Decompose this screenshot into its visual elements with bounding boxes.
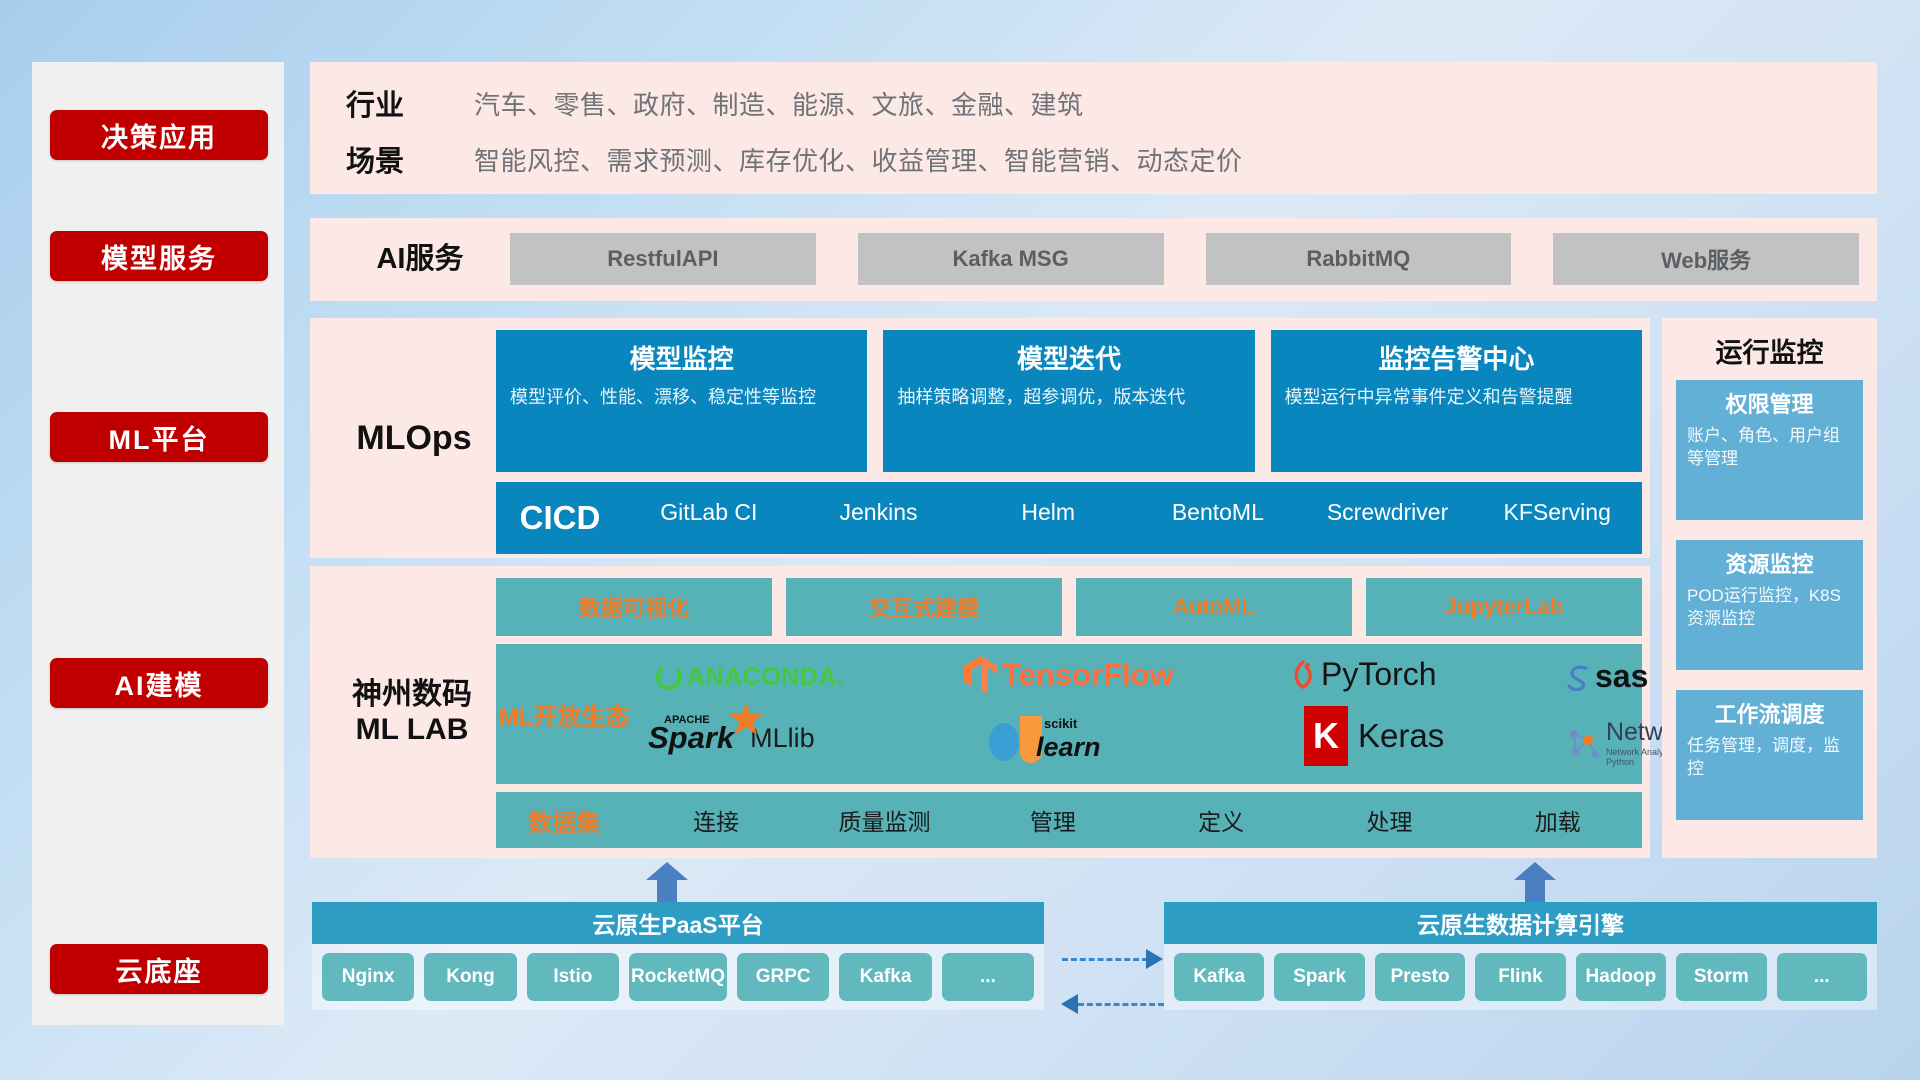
anaconda-mark-icon — [654, 662, 684, 692]
arrow-up-to-mllab-right — [1514, 862, 1556, 902]
compute-title: 云原生数据计算引擎 — [1164, 902, 1877, 944]
exchange-arrow-left — [1061, 994, 1078, 1014]
compute-chip-storm[interactable]: Storm — [1676, 953, 1766, 1001]
tensorflow-mark-icon — [962, 654, 1000, 696]
card-desc: 模型评价、性能、漂移、稳定性等监控 — [510, 385, 853, 410]
tool-card-data-visualization[interactable]: 数据可视化 — [496, 578, 772, 636]
paas-chip-nginx[interactable]: Nginx — [322, 953, 414, 1001]
cicd-item-gitlab-ci[interactable]: GitLab CI — [624, 482, 794, 525]
mlops-card-alert-center[interactable]: 监控告警中心 模型运行中异常事件定义和告警提醒 — [1271, 330, 1642, 472]
sas-mark-icon — [1562, 661, 1594, 693]
layer-rail: 决策应用 模型服务 ML平台 AI建模 云底座 — [32, 62, 284, 1025]
anaconda-logo: ANACONDA. — [654, 662, 844, 692]
networkx-mark-icon — [1562, 724, 1602, 764]
pytorch-logo: PyTorch — [1288, 656, 1437, 693]
service-button-kafka-msg[interactable]: Kafka MSG — [858, 233, 1164, 285]
keras-wordmark: Keras — [1358, 717, 1444, 755]
service-button-web[interactable]: Web服务 — [1553, 233, 1859, 285]
cicd-bar: CICD GitLab CI Jenkins Helm BentoML Scre… — [496, 482, 1642, 554]
dataset-item-connect[interactable]: 连接 — [632, 803, 800, 837]
scikit-text: scikit — [1044, 716, 1077, 731]
runtime-monitoring-panel: 运行监控 权限管理 账户、角色、用户组等管理 资源监控 POD运行监控，K8S资… — [1662, 318, 1877, 858]
monitor-card-resource[interactable]: 资源监控 POD运行监控，K8S资源监控 — [1676, 540, 1863, 670]
card-desc: 任务管理，调度，监控 — [1687, 735, 1852, 780]
sidebar-item-cloud-base[interactable]: 云底座 — [50, 944, 268, 994]
sidebar-item-decision-app[interactable]: 决策应用 — [50, 110, 268, 160]
cicd-item-screwdriver[interactable]: Screwdriver — [1303, 482, 1473, 525]
paas-title: 云原生PaaS平台 — [312, 902, 1044, 944]
tensorflow-logo: TensorFlow — [962, 654, 1174, 696]
paas-chip-group: Nginx Kong Istio RocketMQ GRPC Kafka ... — [312, 944, 1044, 1010]
paas-chip-kafka[interactable]: Kafka — [839, 953, 931, 1001]
service-button-rabbitmq[interactable]: RabbitMQ — [1206, 233, 1512, 285]
pytorch-mark-icon — [1288, 658, 1318, 692]
cicd-title: CICD — [496, 482, 624, 554]
scenario-value: 智能风控、需求预测、库存优化、收益管理、智能营销、动态定价 — [474, 141, 1243, 178]
exchange-dash-line-right — [1062, 958, 1148, 961]
mlops-card-model-monitoring[interactable]: 模型监控 模型评价、性能、漂移、稳定性等监控 — [496, 330, 867, 472]
cicd-item-kfserving[interactable]: KFServing — [1472, 482, 1642, 525]
cloud-native-paas-group: 云原生PaaS平台 Nginx Kong Istio RocketMQ GRPC… — [312, 902, 1044, 1012]
service-button-restfulapi[interactable]: RestfulAPI — [510, 233, 816, 285]
sas-wordmark: sas — [1595, 658, 1648, 695]
industry-row: 行业 汽车、零售、政府、制造、能源、文旅、金融、建筑 — [346, 82, 1084, 124]
keras-logo: K Keras — [1304, 706, 1444, 766]
compute-chip-flink[interactable]: Flink — [1475, 953, 1565, 1001]
pytorch-wordmark: PyTorch — [1321, 656, 1437, 693]
ecosystem-logo-group: ANACONDA. TensorFlow PyTorch — [632, 644, 1642, 784]
paas-chip-istio[interactable]: Istio — [527, 953, 619, 1001]
sidebar-item-label: 决策应用 — [101, 116, 217, 155]
card-title: 权限管理 — [1687, 387, 1852, 419]
arrow-stem — [1525, 876, 1545, 902]
ml-lab-tool-group: 数据可视化 交互式建模 AutoML JupyterLab — [496, 578, 1642, 636]
card-title: 资源监控 — [1687, 547, 1852, 579]
scenario-row: 场景 智能风控、需求预测、库存优化、收益管理、智能营销、动态定价 — [346, 138, 1243, 180]
ai-service-button-group: RestfulAPI Kafka MSG RabbitMQ Web服务 — [510, 233, 1859, 285]
paas-chip-rocketmq[interactable]: RocketMQ — [629, 953, 727, 1001]
dataset-item-define[interactable]: 定义 — [1137, 803, 1305, 837]
sidebar-item-label: ML平台 — [109, 418, 210, 457]
architecture-diagram: 决策应用 模型服务 ML平台 AI建模 云底座 行业 汽车、零售、政府、制造、能… — [0, 0, 1920, 1080]
sidebar-item-model-service[interactable]: 模型服务 — [50, 231, 268, 281]
sas-logo: sas — [1562, 658, 1648, 695]
compute-chip-more[interactable]: ... — [1777, 953, 1867, 1001]
card-title: 工作流调度 — [1687, 697, 1852, 729]
compute-chip-group: Kafka Spark Presto Flink Hadoop Storm ..… — [1164, 944, 1877, 1010]
dataset-label: 数据集 — [496, 803, 632, 838]
spark-apache-text: APACHE — [664, 714, 710, 726]
ml-lab-label-line2: ML LAB — [352, 712, 472, 747]
keras-mark-letter: K — [1313, 715, 1339, 757]
dataset-item-quality-monitoring[interactable]: 质量监测 — [800, 803, 968, 837]
learn-wordmark: learn — [1036, 732, 1101, 763]
paas-chip-more[interactable]: ... — [942, 953, 1034, 1001]
industry-value: 汽车、零售、政府、制造、能源、文旅、金融、建筑 — [474, 85, 1084, 122]
card-title: 监控告警中心 — [1285, 339, 1628, 376]
runtime-monitoring-title: 运行监控 — [1662, 330, 1877, 370]
paas-chip-kong[interactable]: Kong — [424, 953, 516, 1001]
tensorflow-wordmark: TensorFlow — [1002, 657, 1174, 693]
ai-service-panel: AI服务 RestfulAPI Kafka MSG RabbitMQ Web服务 — [310, 218, 1877, 301]
anaconda-wordmark: ANACONDA. — [687, 663, 844, 692]
sidebar-item-ai-modeling[interactable]: AI建模 — [50, 658, 268, 708]
ml-lab-panel: 神州数码 ML LAB 数据可视化 交互式建模 AutoML JupyterLa… — [310, 566, 1650, 858]
scenario-label: 场景 — [346, 138, 474, 180]
spark-star-icon — [726, 700, 766, 740]
scikit-learn-logo: scikit learn — [984, 710, 1044, 770]
ml-lab-label: 神州数码 ML LAB — [320, 566, 504, 858]
decision-application-panel: 行业 汽车、零售、政府、制造、能源、文旅、金融、建筑 场景 智能风控、需求预测、… — [310, 62, 1877, 194]
arrow-up-to-mllab-left — [646, 862, 688, 902]
card-desc: POD运行监控，K8S资源监控 — [1687, 585, 1852, 630]
cloud-native-compute-group: 云原生数据计算引擎 Kafka Spark Presto Flink Hadoo… — [1164, 902, 1877, 1012]
card-desc: 模型运行中异常事件定义和告警提醒 — [1285, 385, 1628, 410]
mlops-card-model-iteration[interactable]: 模型迭代 抽样策略调整，超参调优，版本迭代 — [883, 330, 1254, 472]
exchange-dash-line-left — [1078, 1003, 1164, 1006]
ai-service-label: AI服务 — [330, 218, 510, 301]
ml-ecosystem-label: ML开放生态 — [496, 697, 632, 732]
compute-chip-spark[interactable]: Spark — [1274, 953, 1364, 1001]
monitor-card-workflow[interactable]: 工作流调度 任务管理，调度，监控 — [1676, 690, 1863, 820]
tool-card-jupyterlab[interactable]: JupyterLab — [1366, 578, 1642, 636]
scikit-learn-mark-icon — [984, 710, 1044, 770]
dataset-item-manage[interactable]: 管理 — [969, 803, 1137, 837]
ml-lab-label-line1: 神州数码 — [352, 677, 472, 712]
card-desc: 抽样策略调整，超参调优，版本迭代 — [897, 385, 1240, 410]
sidebar-item-label: AI建模 — [115, 664, 204, 703]
spark-mllib-logo: APACHE Spark MLlib — [648, 720, 815, 756]
cicd-item-jenkins[interactable]: Jenkins — [794, 482, 964, 525]
card-desc: 账户、角色、用户组等管理 — [1687, 425, 1852, 470]
sidebar-item-label: 模型服务 — [101, 237, 217, 276]
cicd-item-bentoml[interactable]: BentoML — [1133, 482, 1303, 525]
monitor-card-permission[interactable]: 权限管理 账户、角色、用户组等管理 — [1676, 380, 1863, 520]
sidebar-item-label: 云底座 — [116, 950, 203, 989]
sidebar-item-ml-platform[interactable]: ML平台 — [50, 412, 268, 462]
dataset-item-load[interactable]: 加载 — [1474, 803, 1642, 837]
compute-chip-hadoop[interactable]: Hadoop — [1576, 953, 1666, 1001]
compute-chip-kafka[interactable]: Kafka — [1174, 953, 1264, 1001]
industry-label: 行业 — [346, 82, 474, 124]
keras-mark-icon: K — [1304, 706, 1348, 766]
mlops-label: MLOps — [324, 318, 504, 558]
dataset-item-process[interactable]: 处理 — [1305, 803, 1473, 837]
exchange-arrow-right — [1146, 949, 1163, 969]
arrow-stem — [657, 876, 677, 902]
ml-ecosystem-bar: ML开放生态 ANACONDA. TensorFlow — [496, 644, 1642, 784]
card-title: 模型监控 — [510, 339, 853, 376]
dataset-bar: 数据集 连接 质量监测 管理 定义 处理 加载 — [496, 792, 1642, 848]
mlops-card-group: 模型监控 模型评价、性能、漂移、稳定性等监控 模型迭代 抽样策略调整，超参调优，… — [496, 330, 1642, 472]
tool-card-interactive-modeling[interactable]: 交互式建模 — [786, 578, 1062, 636]
card-title: 模型迭代 — [897, 339, 1240, 376]
tool-card-automl[interactable]: AutoML — [1076, 578, 1352, 636]
compute-chip-presto[interactable]: Presto — [1375, 953, 1465, 1001]
cicd-item-helm[interactable]: Helm — [963, 482, 1133, 525]
paas-chip-grpc[interactable]: GRPC — [737, 953, 829, 1001]
mlops-panel: MLOps 模型监控 模型评价、性能、漂移、稳定性等监控 模型迭代 抽样策略调整… — [310, 318, 1650, 558]
